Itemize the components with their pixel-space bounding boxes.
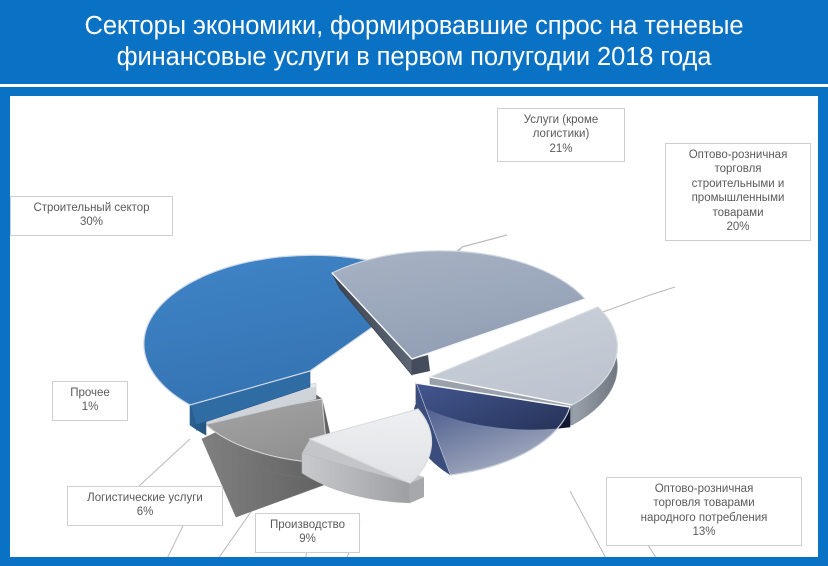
page-title: Секторы экономики, формировавшие спрос н… [85, 11, 744, 73]
callout-logistics[interactable]: Логистические услуги 6% [67, 486, 223, 526]
slide-root: Секторы экономики, формировавшие спрос н… [0, 0, 828, 566]
title-banner: Секторы экономики, формировавшие спрос н… [0, 0, 828, 84]
callout-other[interactable]: Прочее 1% [52, 381, 128, 421]
callout-production[interactable]: Производство 9% [255, 513, 360, 553]
callout-wholesale-consumer[interactable]: Оптово-розничная торговля товарами народ… [606, 477, 802, 546]
callout-construction[interactable]: Строительный сектор 30% [10, 196, 173, 236]
callout-services[interactable]: Услуги (кроме логистики) 21% [497, 108, 625, 162]
callout-wholesale-industrial[interactable]: Оптово-розничная торговля строительными … [665, 143, 811, 241]
